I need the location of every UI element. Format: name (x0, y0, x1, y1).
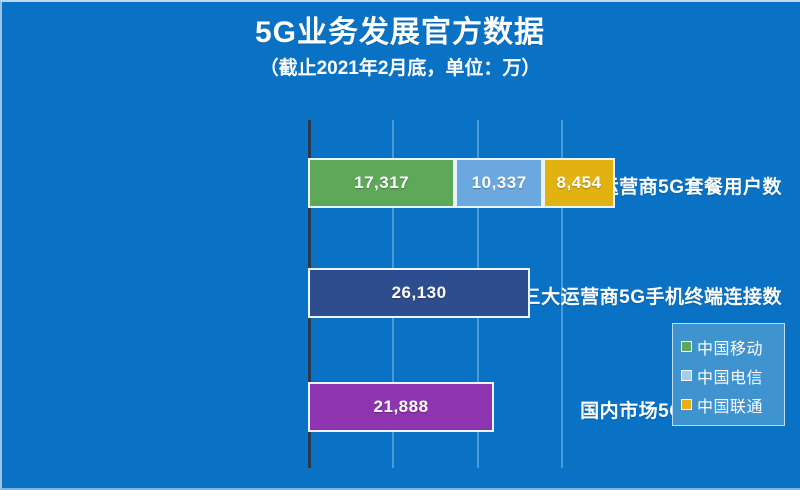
title-block: 5G业务发展官方数据 （截止2021年2月底，单位：万） (0, 14, 800, 84)
bar-segment-shipments[interactable]: 21,888 (308, 382, 494, 432)
category-label-1: 三大运营商5G手机终端连接数 (510, 282, 800, 309)
page-title: 5G业务发展官方数据 (0, 14, 800, 52)
legend-label-unicom: 中国联通 (697, 393, 763, 417)
legend: 中国移动 中国电信 中国联通 (672, 323, 785, 426)
chart-canvas: 5G业务发展官方数据 （截止2021年2月底，单位：万） 三大运营商5G套餐用户… (0, 0, 800, 490)
legend-label-mobile: 中国移动 (697, 335, 763, 359)
bar-segment-mobile[interactable]: 17,317 (308, 158, 455, 208)
bar-segment-telecom[interactable]: 10,337 (455, 158, 543, 208)
legend-swatch-icon-telecom (681, 370, 692, 381)
legend-swatch-icon-unicom (681, 399, 692, 410)
legend-label-telecom: 中国电信 (697, 364, 763, 388)
legend-swatch-icon-mobile (681, 341, 692, 352)
legend-item-unicom[interactable]: 中国联通 (681, 390, 784, 419)
bar-segment-unicom[interactable]: 8,454 (543, 158, 615, 208)
chart-subtitle: （截止2021年2月底，单位：万） (0, 54, 800, 84)
bar-segment-connections[interactable]: 26,130 (308, 268, 530, 318)
legend-item-mobile[interactable]: 中国移动 (681, 332, 784, 361)
legend-item-telecom[interactable]: 中国电信 (681, 361, 784, 390)
